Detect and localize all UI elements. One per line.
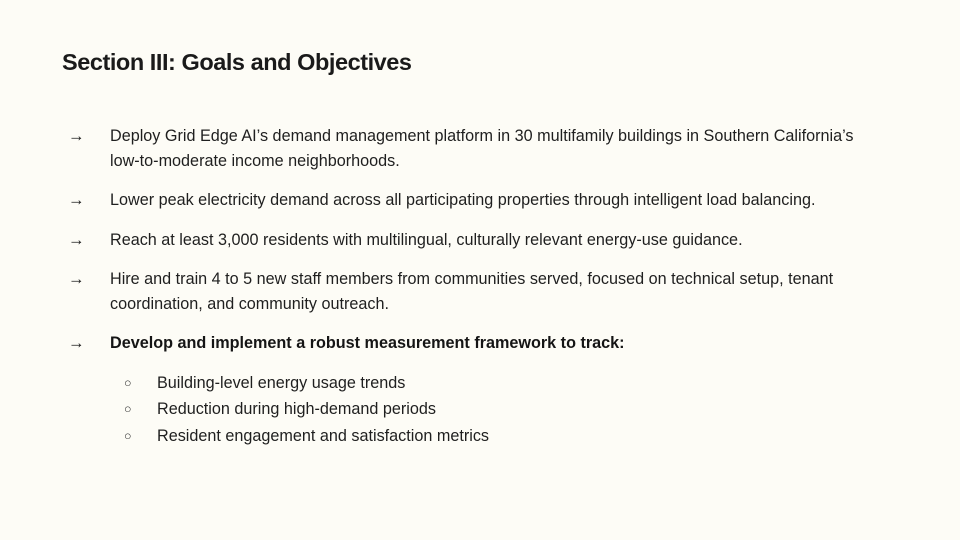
list-item-text: Lower peak electricity demand across all… bbox=[110, 188, 870, 213]
sub-bullet-list: ○ Building-level energy usage trends ○ R… bbox=[62, 371, 902, 449]
list-item-text: Deploy Grid Edge AI’s demand management … bbox=[110, 124, 870, 173]
arrow-right-icon: → bbox=[62, 188, 110, 213]
list-item: → Reach at least 3,000 residents with mu… bbox=[62, 228, 902, 253]
list-item: → Hire and train 4 to 5 new staff member… bbox=[62, 267, 902, 316]
list-item: → Deploy Grid Edge AI’s demand managemen… bbox=[62, 124, 902, 173]
sub-list-item: ○ Reduction during high-demand periods bbox=[62, 397, 902, 422]
list-item-text: Hire and train 4 to 5 new staff members … bbox=[110, 267, 870, 316]
list-item: → Lower peak electricity demand across a… bbox=[62, 188, 902, 213]
list-item-text: Develop and implement a robust measureme… bbox=[110, 331, 870, 356]
list-item-text: Reach at least 3,000 residents with mult… bbox=[110, 228, 870, 253]
sub-list-item-text: Building-level energy usage trends bbox=[157, 371, 902, 396]
sub-list-item-text: Resident engagement and satisfaction met… bbox=[157, 424, 902, 449]
circle-bullet-icon: ○ bbox=[62, 424, 157, 449]
arrow-right-icon: → bbox=[62, 331, 110, 356]
sub-list-item-text: Reduction during high-demand periods bbox=[157, 397, 902, 422]
page-title: Section III: Goals and Objectives bbox=[62, 49, 412, 76]
circle-bullet-icon: ○ bbox=[62, 397, 157, 422]
list-item-emphasis: → Develop and implement a robust measure… bbox=[62, 331, 902, 356]
arrow-right-icon: → bbox=[62, 267, 110, 292]
slide-canvas: Section III: Goals and Objectives → Depl… bbox=[0, 0, 960, 540]
circle-bullet-icon: ○ bbox=[62, 371, 157, 396]
bullet-list: → Deploy Grid Edge AI’s demand managemen… bbox=[62, 124, 902, 448]
arrow-right-icon: → bbox=[62, 124, 110, 149]
arrow-right-icon: → bbox=[62, 228, 110, 253]
sub-list-item: ○ Building-level energy usage trends bbox=[62, 371, 902, 396]
sub-list-item: ○ Resident engagement and satisfaction m… bbox=[62, 424, 902, 449]
